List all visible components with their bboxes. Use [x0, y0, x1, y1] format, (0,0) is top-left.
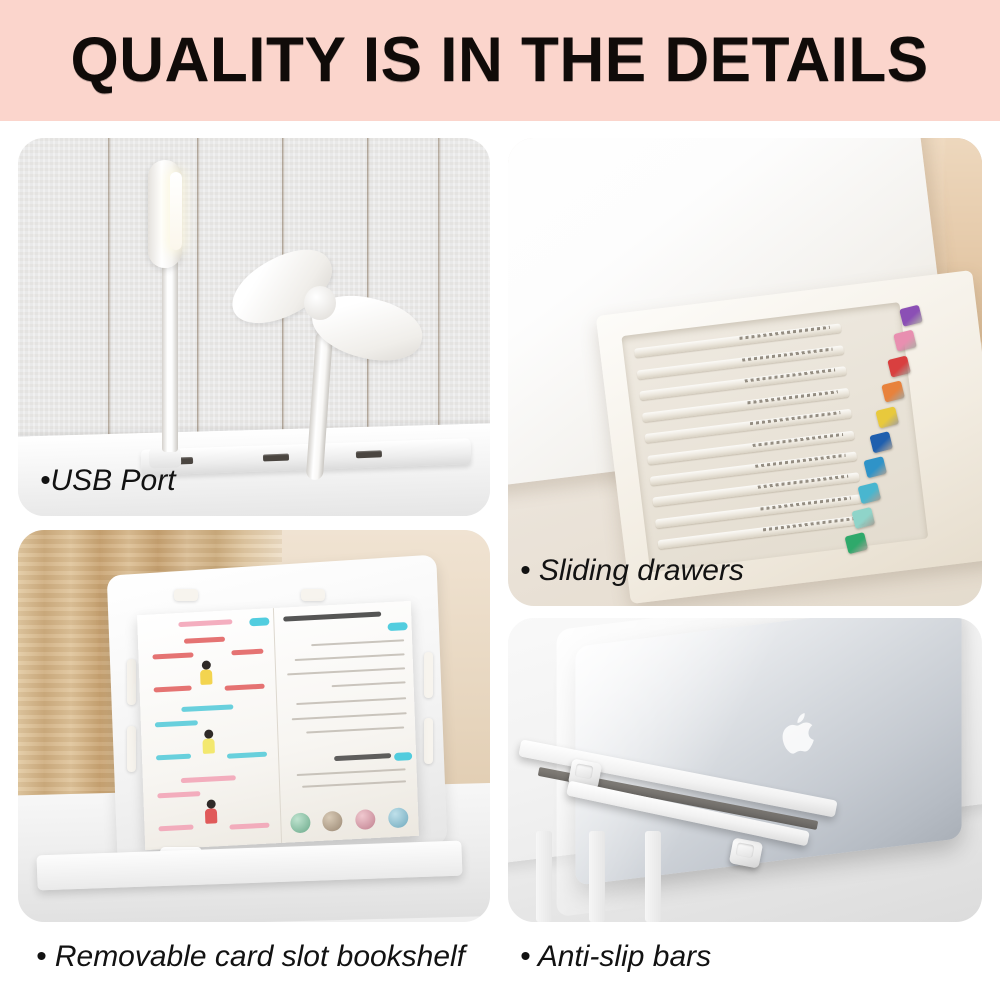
highlight [229, 823, 270, 830]
highlight [155, 754, 191, 761]
usb-port-slot [355, 450, 381, 458]
book-label-bubble [387, 623, 407, 632]
highlight [178, 620, 233, 628]
text-line [331, 682, 405, 688]
book-illustration-figure [203, 800, 218, 825]
book-photo-circle [322, 811, 343, 832]
panel-card-slot-bookshelf [18, 530, 490, 922]
figure-body [202, 738, 215, 754]
caption-card-slot-bookshelf: • Removable card slot bookshelf [36, 942, 465, 972]
book-photo-circle [289, 813, 310, 834]
card-slot-tab[interactable] [127, 659, 136, 705]
apple-logo-icon [779, 706, 823, 760]
text-line [295, 653, 404, 661]
book-photo-circle [387, 807, 408, 828]
heading-line [282, 612, 380, 622]
panel-sliding-drawers [508, 138, 982, 606]
panel-anti-slip-bars [508, 618, 982, 922]
desk-leg [589, 831, 605, 922]
highlight [226, 752, 267, 759]
caption-anti-slip-bars: • Anti-slip bars [520, 942, 711, 972]
panel-usb-port [18, 138, 490, 516]
heading-line [334, 753, 391, 761]
figure-body [200, 670, 213, 686]
anti-slip-stopper[interactable] [729, 837, 763, 868]
book-illustration-figure [201, 729, 216, 754]
card-slot-tab[interactable] [424, 652, 433, 698]
book-page-left [137, 608, 282, 850]
text-line [311, 639, 404, 646]
marker-cap [900, 305, 924, 327]
text-line [287, 668, 404, 676]
text-line [296, 769, 405, 777]
figure-body [205, 809, 218, 825]
book-illustration-figure [198, 661, 213, 686]
caption-usb-port: •USB Port [40, 466, 176, 496]
text-line [306, 726, 404, 733]
highlight [231, 649, 264, 656]
anti-slip-bars-photo [508, 618, 982, 922]
highlight [224, 684, 265, 691]
text-line [302, 780, 406, 787]
highlight [153, 686, 191, 693]
book-page-right [274, 601, 418, 843]
desk-leg [536, 831, 552, 922]
usb-port-slot [263, 454, 289, 462]
page-title: QUALITY IS IN THE DETAILS [71, 29, 929, 92]
card-slot-tab[interactable] [127, 726, 136, 772]
text-line [291, 712, 405, 720]
usb-lamp-light [170, 172, 182, 250]
bookshelf-photo [18, 530, 490, 922]
usb-fan-hub [304, 286, 336, 320]
marker-cap [894, 330, 918, 352]
book-label-bubble [249, 618, 269, 627]
highlight [152, 653, 193, 660]
highlight [181, 705, 233, 713]
card-slot-tab[interactable] [424, 718, 433, 764]
card-slot-tab[interactable] [301, 589, 325, 601]
figure-head [204, 729, 213, 738]
caption-sliding-drawers: • Sliding drawers [520, 556, 744, 586]
highlight [184, 637, 225, 644]
highlight [181, 775, 236, 783]
open-book [137, 601, 419, 850]
usb-port-photo [18, 138, 490, 516]
desk-leg [645, 831, 661, 922]
highlight [154, 721, 198, 728]
highlight [158, 825, 194, 832]
book-photo-circle [355, 809, 376, 830]
text-line [296, 698, 405, 706]
card-slot-tab[interactable] [174, 589, 198, 601]
highlight [157, 791, 201, 798]
book-label-bubble [393, 752, 411, 761]
sliding-drawers-photo [508, 138, 982, 606]
header-banner: QUALITY IS IN THE DETAILS [0, 0, 1000, 121]
